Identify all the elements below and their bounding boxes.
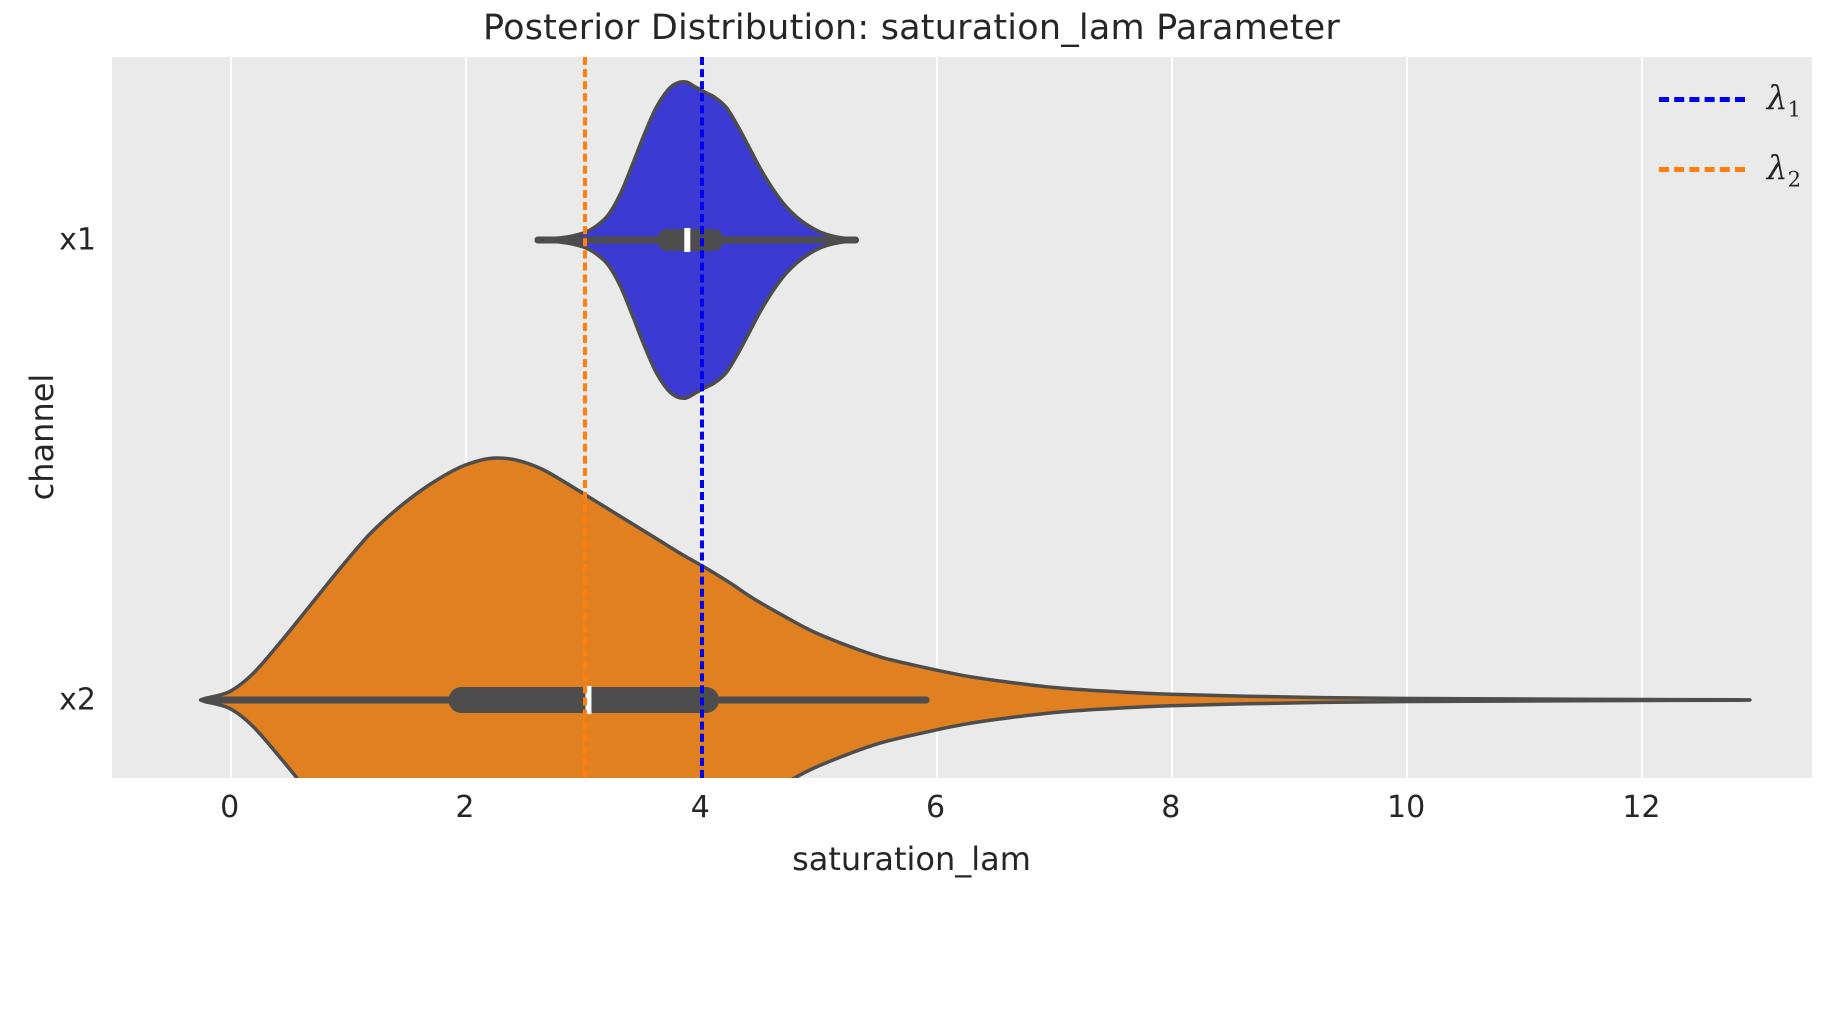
- x-tick-label-2: 2: [455, 790, 474, 825]
- legend: λ1λ2: [1659, 78, 1801, 191]
- x-tick-label-12: 12: [1622, 790, 1660, 825]
- legend-label: λ2: [1767, 148, 1801, 192]
- x-axis-label: saturation_lam: [0, 840, 1823, 878]
- legend-swatch-icon: [1659, 167, 1745, 172]
- reference-line-lambda_1: [700, 57, 704, 778]
- y-tick-label-x2: x2: [0, 683, 96, 718]
- page-title: Posterior Distribution: saturation_lam P…: [0, 8, 1823, 48]
- legend-label: λ1: [1767, 78, 1801, 122]
- legend-swatch-icon: [1659, 97, 1745, 102]
- plot-area: [112, 57, 1812, 778]
- x-tick-label-8: 8: [1161, 790, 1180, 825]
- y-tick-label-x1: x1: [0, 223, 96, 258]
- x-tick-label-0: 0: [220, 790, 239, 825]
- violin-x2: [112, 57, 1812, 778]
- legend-item-λ1: λ1: [1659, 78, 1801, 122]
- x-tick-label-6: 6: [926, 790, 945, 825]
- violin-plot-figure: Posterior Distribution: saturation_lam P…: [0, 0, 1823, 1023]
- y-axis-label: channel: [23, 297, 61, 577]
- reference-line-lambda_2: [583, 57, 587, 778]
- violin-body-x2: [201, 458, 1750, 778]
- x-tick-label-10: 10: [1387, 790, 1425, 825]
- legend-item-λ2: λ2: [1659, 148, 1801, 192]
- x-tick-label-4: 4: [691, 790, 710, 825]
- violin-series-layer: [112, 57, 1812, 778]
